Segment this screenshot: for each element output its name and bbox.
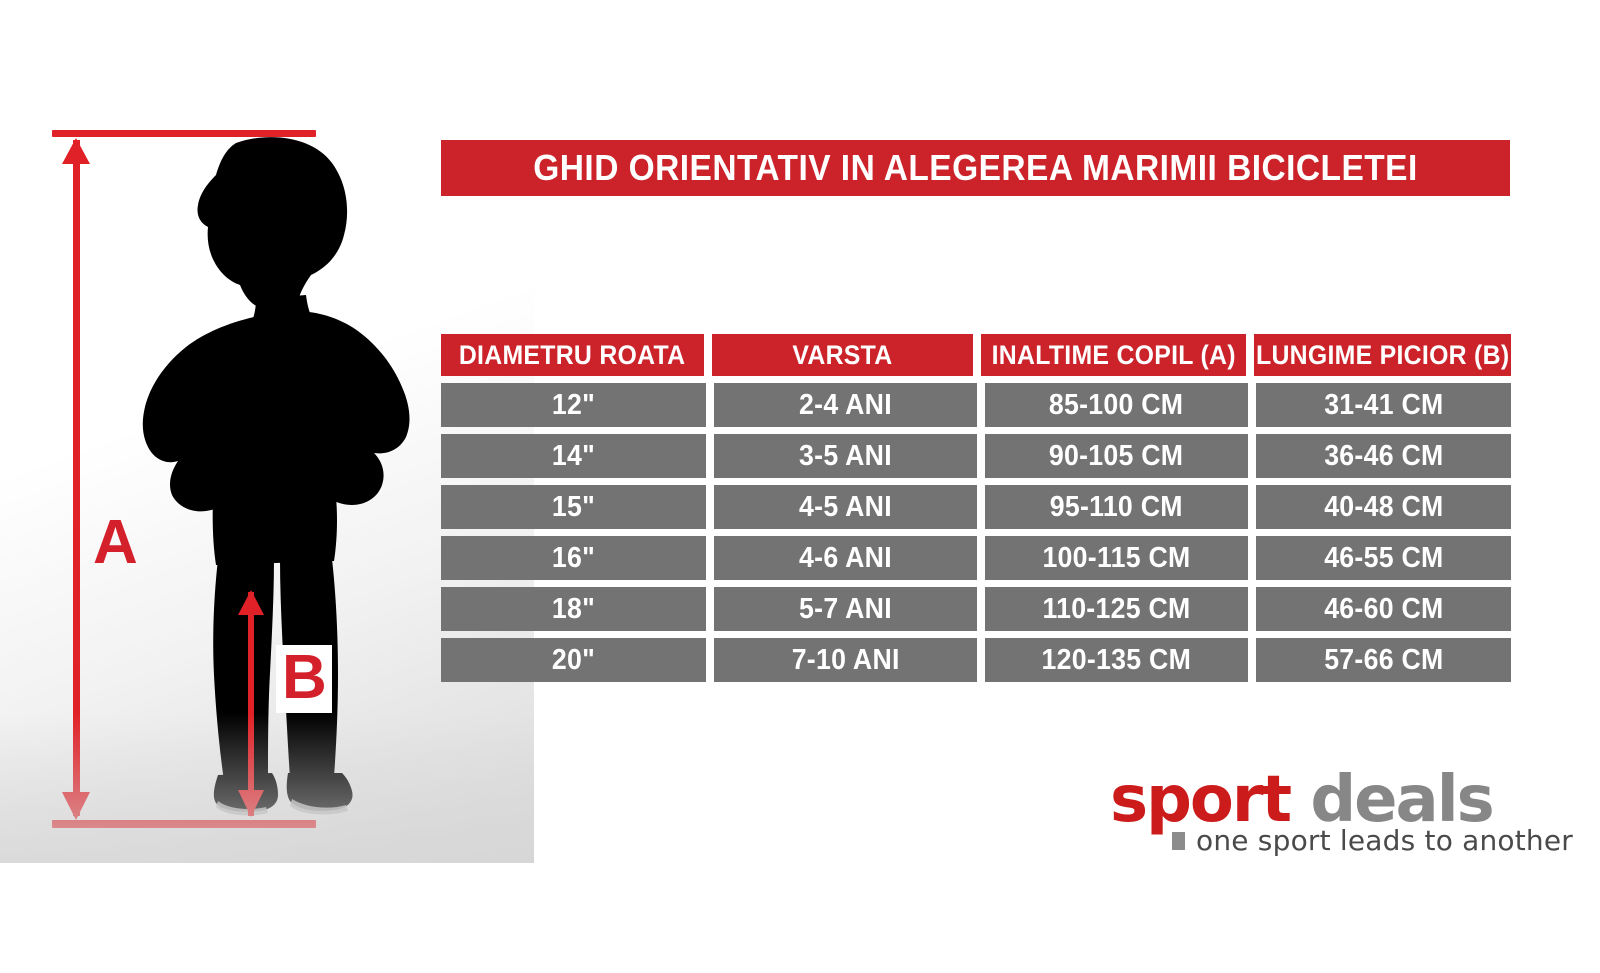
cell-wheel-diameter: 12" — [441, 383, 706, 427]
cell-leg-length: 46-60 CM — [1256, 587, 1511, 631]
ground-reference-line — [52, 820, 316, 828]
cell-age: 4-5 ANI — [714, 485, 977, 529]
table-row: 18" 5-7 ANI 110-125 CM 46-60 CM — [441, 587, 1511, 631]
table-row: 14" 3-5 ANI 90-105 CM 36-46 CM — [441, 434, 1511, 478]
arrow-down-icon-b — [238, 790, 264, 817]
cell-leg-length: 36-46 CM — [1256, 434, 1511, 478]
bike-size-guide-infographic: A B GHID ORIENTATIV IN ALEGEREA MARIMII … — [0, 0, 1600, 973]
cell-child-height: 100-115 CM — [985, 536, 1248, 580]
arrow-down-icon-a — [62, 792, 90, 820]
cell-leg-length: 40-48 CM — [1256, 485, 1511, 529]
cell-age: 5-7 ANI — [714, 587, 977, 631]
column-header-wheel-diameter: DIAMETRU ROATA — [441, 334, 704, 376]
column-header-age-label: VARSTA — [792, 340, 892, 371]
column-header-wheel-diameter-label: DIAMETRU ROATA — [459, 340, 685, 371]
table-row: 16" 4-6 ANI 100-115 CM 46-55 CM — [441, 536, 1511, 580]
cell-leg-length: 31-41 CM — [1256, 383, 1511, 427]
logo-bullet-square-icon — [1172, 832, 1185, 850]
height-measure-shaft-b — [248, 592, 254, 816]
title-banner: GHID ORIENTATIV IN ALEGEREA MARIMII BICI… — [441, 140, 1510, 196]
logo-tagline: one sport leads to another — [1196, 827, 1573, 855]
table-row: 20" 7-10 ANI 120-135 CM 57-66 CM — [441, 638, 1511, 682]
height-top-reference-line — [52, 130, 316, 137]
cell-wheel-diameter: 18" — [441, 587, 706, 631]
cell-age: 4-6 ANI — [714, 536, 977, 580]
cell-child-height: 110-125 CM — [985, 587, 1248, 631]
column-header-child-height: INALTIME COPIL (A) — [981, 334, 1246, 376]
cell-leg-length: 57-66 CM — [1256, 638, 1511, 682]
column-header-child-height-label: INALTIME COPIL (A) — [991, 340, 1235, 371]
bike-size-table: DIAMETRU ROATA VARSTA INALTIME COPIL (A)… — [441, 334, 1511, 689]
cell-age: 7-10 ANI — [714, 638, 977, 682]
cell-leg-length: 46-55 CM — [1256, 536, 1511, 580]
arrow-up-icon-b — [238, 590, 264, 615]
column-header-leg-length: LUNGIME PICIOR (B) — [1254, 334, 1511, 376]
logo-wordmark: sport deals — [1110, 768, 1493, 832]
table-row: 12" 2-4 ANI 85-100 CM 31-41 CM — [441, 383, 1511, 427]
cell-age: 2-4 ANI — [714, 383, 977, 427]
sport-deals-logo: sport deals one sport leads to another — [1110, 768, 1510, 858]
table-row: 15" 4-5 ANI 95-110 CM 40-48 CM — [441, 485, 1511, 529]
table-header-row: DIAMETRU ROATA VARSTA INALTIME COPIL (A)… — [441, 334, 1511, 376]
measure-label-b: B — [276, 645, 332, 713]
column-header-leg-length-label: LUNGIME PICIOR (B) — [1256, 340, 1509, 371]
child-silhouette-image — [108, 135, 438, 825]
cell-wheel-diameter: 20" — [441, 638, 706, 682]
height-measure-shaft-a — [73, 140, 80, 816]
column-header-age: VARSTA — [712, 334, 973, 376]
cell-wheel-diameter: 14" — [441, 434, 706, 478]
measure-label-a: A — [93, 512, 137, 574]
cell-child-height: 85-100 CM — [985, 383, 1248, 427]
cell-child-height: 90-105 CM — [985, 434, 1248, 478]
cell-wheel-diameter: 16" — [441, 536, 706, 580]
cell-wheel-diameter: 15" — [441, 485, 706, 529]
cell-child-height: 120-135 CM — [985, 638, 1248, 682]
cell-child-height: 95-110 CM — [985, 485, 1248, 529]
arrow-up-icon-a — [62, 138, 90, 164]
cell-age: 3-5 ANI — [714, 434, 977, 478]
page-title: GHID ORIENTATIV IN ALEGEREA MARIMII BICI… — [533, 147, 1417, 189]
